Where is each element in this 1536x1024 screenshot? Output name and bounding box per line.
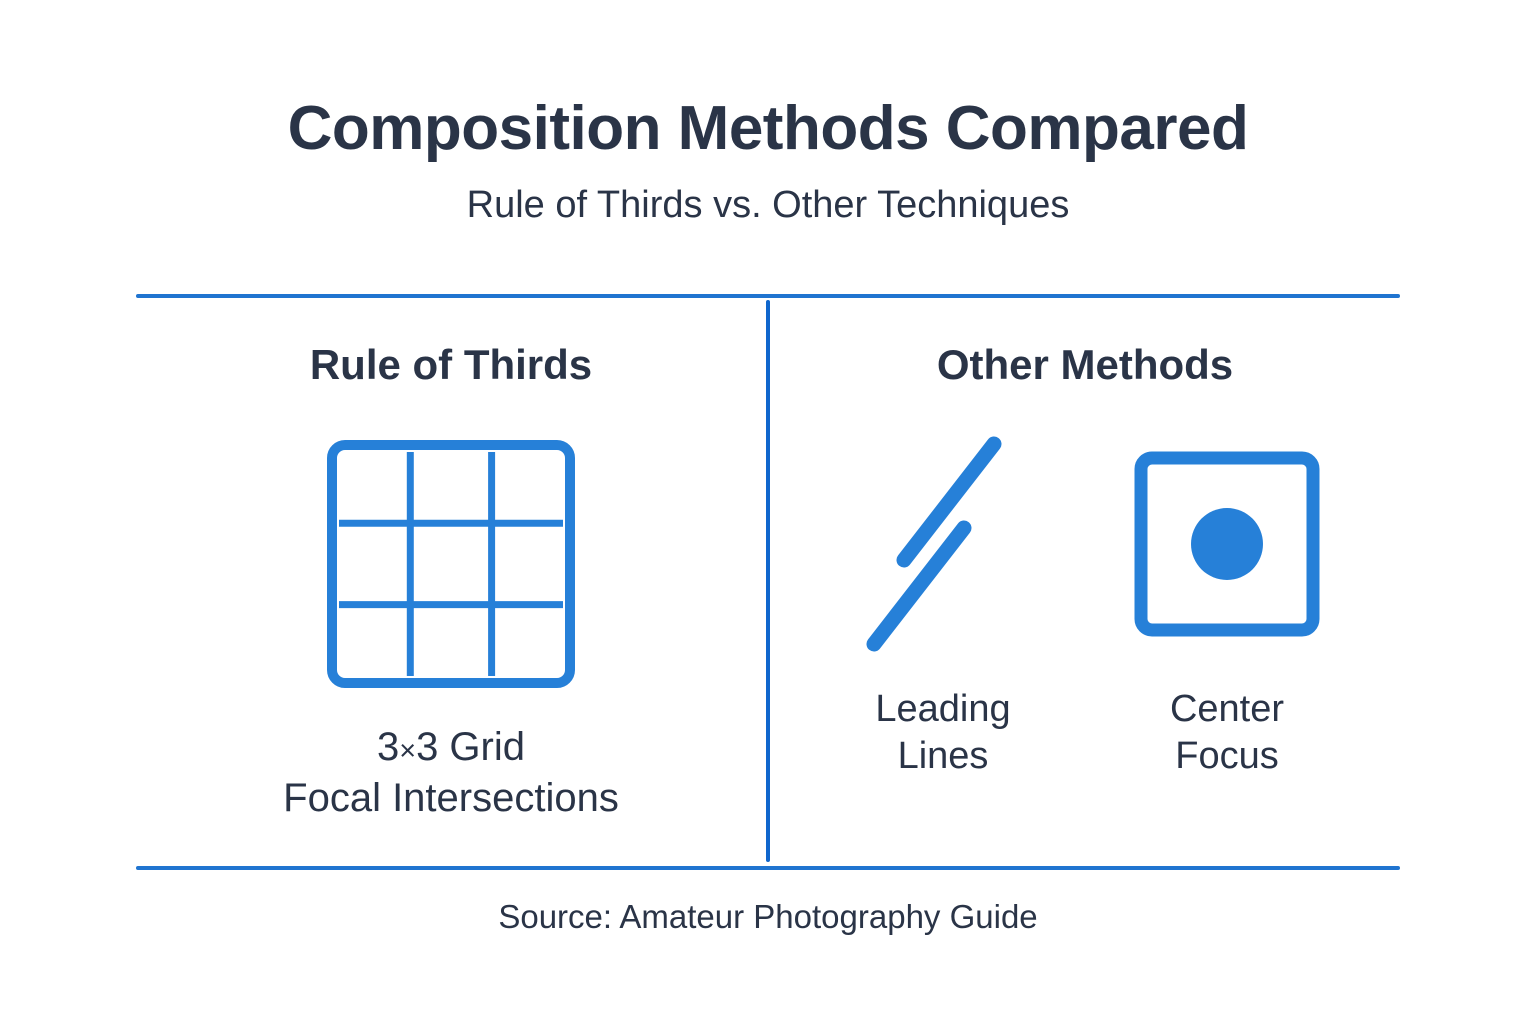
method-leading-lines: Leading Lines [838, 428, 1048, 779]
leading-lines-art [858, 428, 1028, 660]
column-other-methods: Other Methods Leading Lines [770, 300, 1400, 866]
method-label-leading-lines: Leading Lines [875, 686, 1010, 779]
column-rule-of-thirds: Rule of Thirds 3×3 Grid Focal Intersecti… [136, 300, 766, 866]
method-center-focus: Center Focus [1122, 428, 1332, 779]
header-block: Composition Methods Compared Rule of Thi… [0, 96, 1536, 227]
method-label-center-focus: Center Focus [1170, 686, 1284, 779]
column-heading-left: Rule of Thirds [136, 342, 766, 388]
column-caption-left: 3×3 Grid Focal Intersections [136, 722, 766, 824]
divider-top [136, 294, 1400, 298]
infographic-canvas: Composition Methods Compared Rule of Thi… [0, 0, 1536, 1024]
center-focus-icon [1134, 451, 1320, 637]
methods-row: Leading Lines Center Focus [770, 428, 1400, 779]
method-label-line-2: Focus [1170, 733, 1284, 779]
method-label-line-1: Leading [875, 686, 1010, 732]
divider-bottom [136, 866, 1400, 870]
three-by-three-grid-icon [327, 440, 575, 688]
method-label-line-2: Lines [875, 733, 1010, 779]
leading-lines-icon [858, 428, 1028, 660]
caption-line-grid: 3×3 Grid [136, 722, 766, 773]
page-title: Composition Methods Compared [0, 96, 1536, 163]
method-label-line-1: Center [1170, 686, 1284, 732]
page-subtitle: Rule of Thirds vs. Other Techniques [0, 185, 1536, 227]
caption-line-focal: Focal Intersections [136, 773, 766, 824]
grid-icon-wrap [136, 440, 766, 688]
column-heading-right: Other Methods [770, 342, 1400, 388]
center-focus-art [1134, 428, 1320, 660]
source-note: Source: Amateur Photography Guide [0, 898, 1536, 936]
